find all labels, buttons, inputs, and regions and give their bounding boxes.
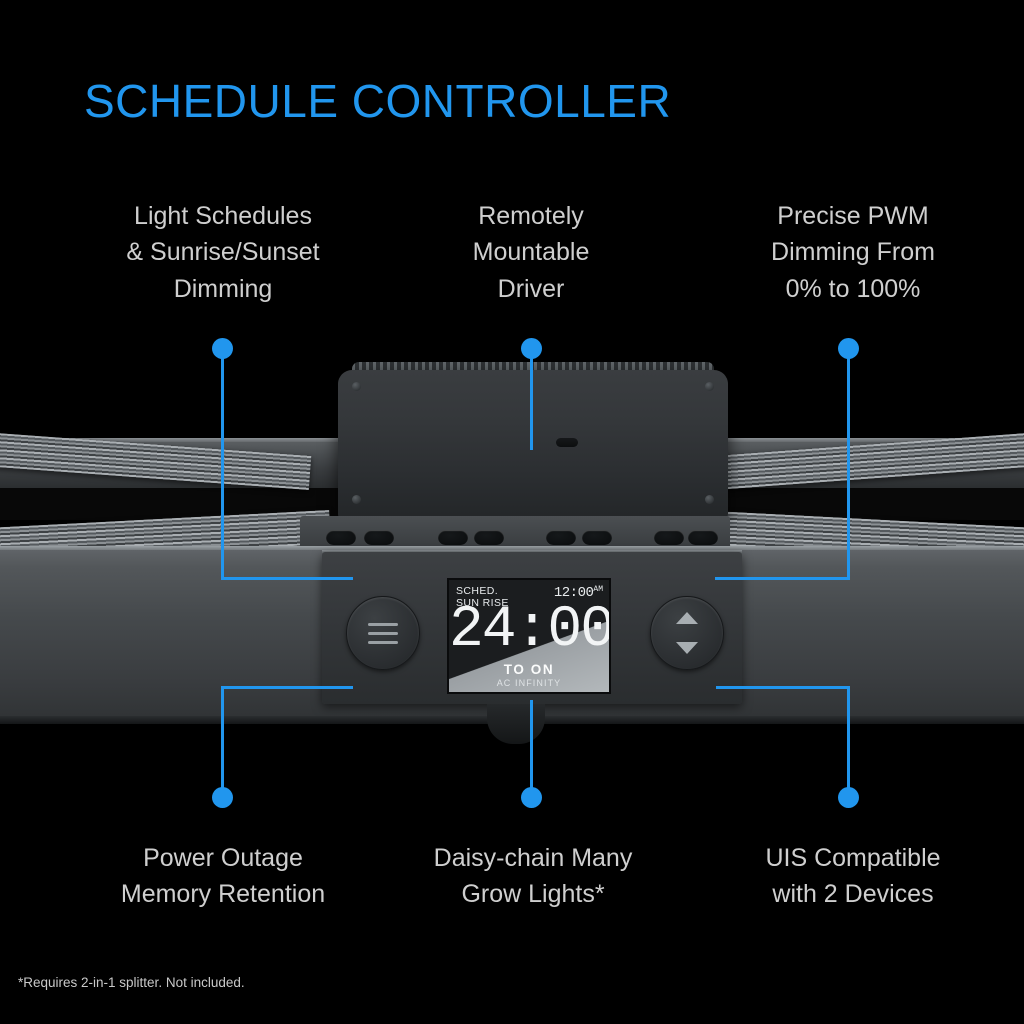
mount-hole <box>688 530 718 545</box>
product-photo: SCHED. SUN RISE 12:00AM 24:00 TO ON AC I… <box>0 420 1024 790</box>
driver-screw-bottom-left <box>352 495 361 504</box>
callout-line-pwm-dimming-h <box>715 577 850 580</box>
up-down-button[interactable] <box>650 596 724 670</box>
lcd-brand-label: AC INFINITY <box>449 678 609 688</box>
lcd-display[interactable]: SCHED. SUN RISE 12:00AM 24:00 TO ON AC I… <box>447 578 611 694</box>
callout-line-light-schedules-h <box>221 577 353 580</box>
lcd-main-value: 24:00 <box>449 602 609 660</box>
menu-icon-line <box>368 623 398 626</box>
callout-label-remote-driver: Remotely Mountable Driver <box>400 198 662 307</box>
menu-button[interactable] <box>346 596 420 670</box>
mount-hole <box>326 530 356 545</box>
chevron-down-icon[interactable] <box>676 642 698 654</box>
lcd-mode-line-1: SCHED. <box>456 586 509 598</box>
driver-screw-top-right <box>705 382 714 391</box>
mount-hole <box>364 530 394 545</box>
mount-hole <box>474 530 504 545</box>
menu-icon-line <box>368 641 398 644</box>
callout-label-power-outage: Power Outage Memory Retention <box>92 840 354 913</box>
callout-label-light-schedules: Light Schedules & Sunrise/Sunset Dimming <box>82 198 364 307</box>
callout-label-pwm-dimming: Precise PWM Dimming From 0% to 100% <box>722 198 984 307</box>
lcd-clock-meridiem: AM <box>593 585 603 594</box>
mount-hole <box>546 530 576 545</box>
lcd-status-text: TO ON <box>449 662 609 677</box>
callout-label-uis-compatible: UIS Compatible with 2 Devices <box>722 840 984 913</box>
page-title: SCHEDULE CONTROLLER <box>84 74 671 128</box>
infographic-canvas: SCHEDULE CONTROLLER Light Schedules & Su… <box>0 0 1024 1024</box>
driver-vent-slot <box>556 438 578 447</box>
callout-label-daisy-chain: Daisy-chain Many Grow Lights* <box>402 840 664 913</box>
chevron-up-icon[interactable] <box>676 612 698 624</box>
callout-line-remote-driver-v <box>530 348 533 450</box>
footnote: *Requires 2-in-1 splitter. Not included. <box>18 975 245 990</box>
mount-hole <box>438 530 468 545</box>
callout-line-power-outage-h <box>221 686 353 689</box>
callout-line-uis-compatible-v <box>847 688 850 796</box>
driver-screw-top-left <box>352 382 361 391</box>
callout-line-light-schedules-v <box>221 348 224 580</box>
callout-line-daisy-chain-v <box>530 700 533 796</box>
cable-connector <box>487 704 545 744</box>
driver-screw-bottom-right <box>705 495 714 504</box>
callout-line-pwm-dimming-v <box>847 348 850 580</box>
mount-hole <box>582 530 612 545</box>
callout-line-uis-compatible-h <box>716 686 850 689</box>
menu-icon-line <box>368 632 398 635</box>
callout-line-power-outage-v <box>221 688 224 796</box>
driver-box <box>338 370 728 520</box>
mount-hole <box>654 530 684 545</box>
